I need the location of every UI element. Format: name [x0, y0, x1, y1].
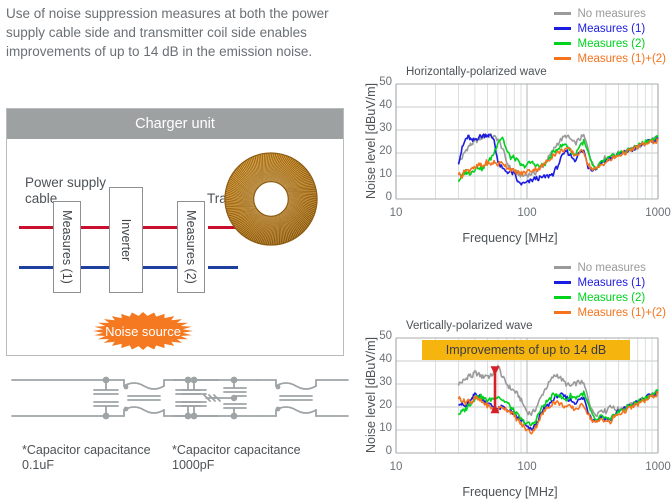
x-tick-label: 1000 — [641, 461, 671, 473]
y-tick-label: 50 — [376, 76, 392, 88]
transmitter-coil-icon — [223, 151, 319, 247]
series-line — [459, 134, 659, 177]
wire-red-seg2 — [81, 226, 111, 229]
improvement-banner: Improvements of up to 14 dB — [422, 340, 630, 360]
box-inverter: Inverter — [109, 187, 143, 293]
noise-source-label: Noise source — [91, 311, 195, 351]
charger-unit-title: Charger unit — [7, 109, 343, 139]
x-tick-label: 1000 — [641, 207, 671, 219]
y-tick-label: 40 — [376, 353, 392, 365]
wire-blue-seg4 — [208, 266, 238, 269]
noise-source-burst: Noise source — [91, 311, 195, 351]
charger-unit-panel: Charger unit Power supply cable Transmit… — [6, 108, 344, 356]
wire-blue-seg2 — [81, 266, 111, 269]
box-measures-2-label: Measures (2) — [184, 210, 198, 284]
chart-vertically-polarized: No measuresMeasures (1)Measures (2)Measu… — [350, 254, 670, 504]
slide-root: Use of noise suppression measures at bot… — [0, 0, 671, 504]
capacitor-note-1: *Capacitor capacitance 0.1uF — [22, 443, 172, 473]
wire-blue-seg1 — [19, 266, 55, 269]
y-tick-label: 40 — [376, 99, 392, 111]
series-line — [459, 392, 659, 434]
series-line — [459, 392, 659, 431]
y-tick-label: 50 — [376, 330, 392, 342]
x-tick-label: 10 — [379, 207, 413, 219]
y-tick-label: 0 — [376, 191, 392, 203]
charger-unit-body: Power supply cable Transmitter coil Meas… — [7, 139, 343, 356]
wire-red-seg3 — [143, 226, 178, 229]
y-tick-label: 10 — [376, 422, 392, 434]
capacitor-note-2: *Capacitor capacitance 1000pF — [172, 443, 332, 473]
box-measures-1-label: Measures (1) — [60, 210, 74, 284]
wire-red-seg1 — [19, 226, 55, 229]
y-tick-label: 20 — [376, 145, 392, 157]
wire-blue-seg3 — [143, 266, 178, 269]
y-tick-label: 30 — [376, 376, 392, 388]
box-measures-1: Measures (1) — [53, 201, 81, 293]
x-tick-label: 10 — [379, 461, 413, 473]
y-tick-label: 20 — [376, 399, 392, 411]
y-tick-label: 10 — [376, 168, 392, 180]
intro-paragraph: Use of noise suppression measures at bot… — [6, 4, 336, 61]
chart-horizontally-polarized: No measuresMeasures (1)Measures (2)Measu… — [350, 0, 670, 250]
x-tick-label: 100 — [510, 461, 544, 473]
y-tick-label: 0 — [376, 445, 392, 457]
series-line — [459, 136, 659, 182]
filter-schematics-2 — [172, 368, 352, 428]
x-tick-label: 100 — [510, 207, 544, 219]
box-measures-2: Measures (2) — [177, 201, 205, 293]
box-inverter-label: Inverter — [119, 219, 133, 261]
y-tick-label: 30 — [376, 122, 392, 134]
